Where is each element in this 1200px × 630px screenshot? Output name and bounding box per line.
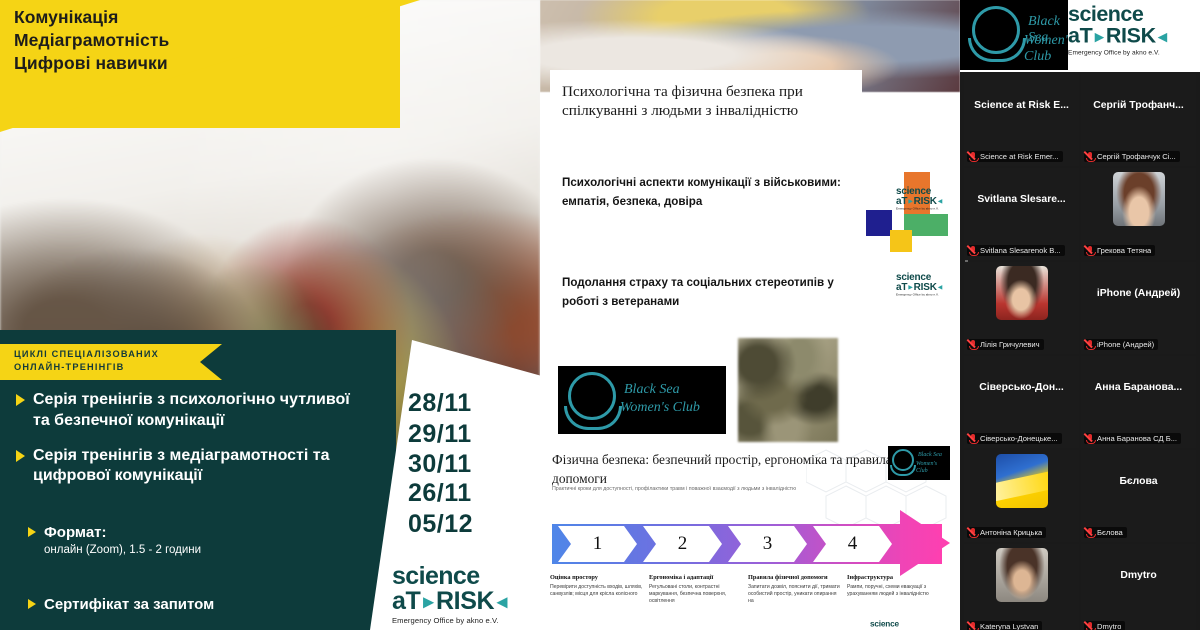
- logo-line-1: science: [870, 620, 899, 628]
- slide-topic-2: Подолання страху та соціальних стереотип…: [562, 274, 862, 312]
- triangle-bullet-icon: [28, 527, 36, 537]
- step-number: 1: [558, 526, 637, 562]
- list-item: Серія тренінгів з медіаграмотності та ци…: [16, 446, 364, 488]
- participant-name-tag: Грекова Тетяна: [1084, 245, 1155, 256]
- promo-bullet-list: Серія тренінгів з психологічно чутливої …: [16, 390, 364, 501]
- chevron-right-icon: ▸: [909, 197, 913, 205]
- participant-grid: Science at Risk E...Science at Risk Emer…: [964, 74, 1196, 630]
- participant-name-tag: iPhone (Андрей): [1084, 339, 1158, 350]
- black-sea-womens-club-logo: Black Sea Women's Club: [888, 446, 950, 480]
- participant-tile[interactable]: Science at Risk E...Science at Risk Emer…: [964, 74, 1079, 166]
- logo-subtitle: Emergency Office by akno e.V.: [896, 207, 942, 210]
- bsw-line-2: Women's Club: [1024, 33, 1068, 64]
- black-sea-womens-club-logo: Black Sea Women's Club: [960, 0, 1068, 70]
- avatar: [996, 454, 1048, 508]
- step-descriptions: Оцінка простору Перевірити доступність в…: [550, 574, 946, 606]
- step-desc: Регульовані столи, контрастні маркування…: [649, 584, 742, 606]
- bsw-line-1: Black Sea: [624, 382, 680, 398]
- microphone-muted-icon: [969, 152, 977, 161]
- process-arrow-diagram: 1 2 3 4: [548, 512, 952, 576]
- participant-tag-label: Сіверсько-Донецьке...: [980, 434, 1058, 443]
- square-navy: [866, 210, 892, 236]
- participant-tile[interactable]: DmytroDmytro: [1081, 544, 1196, 630]
- microphone-muted-icon: [969, 340, 977, 349]
- logo-subtitle: Emergency Office by akno e.V.: [392, 617, 507, 625]
- participant-name-tag: Dmytro: [1084, 621, 1125, 630]
- participant-name-tag: Антоніна Крицька: [967, 527, 1046, 538]
- avatar: [1113, 172, 1165, 226]
- participant-tile[interactable]: Kateryna Lystvan: [964, 544, 1079, 630]
- arrow-head-shape: [900, 510, 950, 576]
- microphone-muted-icon: [1086, 340, 1094, 349]
- logo-risk-text: RISK: [914, 196, 937, 206]
- step-chevron: 1: [558, 526, 637, 562]
- logo-risk-text: RISK: [1106, 26, 1156, 48]
- participant-tile[interactable]: Сергій Трофанч...Сергій Трофанчук Сі...: [1081, 74, 1196, 166]
- step-number: 2: [643, 526, 722, 562]
- training-dates-group-2: 26/11 05/12: [408, 478, 473, 539]
- participant-name-tag: Svitlana Slesarenok B...: [967, 245, 1065, 256]
- logo-risk-text: RISK: [436, 589, 494, 614]
- list-item: Правила фізичної допомоги Запитати дозві…: [748, 574, 841, 606]
- avatar: [996, 266, 1048, 320]
- science-at-risk-logo: science aT ▸ RISK ◂ Emergency Office by …: [896, 186, 942, 210]
- participant-tag-label: Svitlana Slesarenok B...: [980, 246, 1061, 255]
- format-value: онлайн (Zoom), 1.5 - 2 години: [44, 544, 201, 556]
- presentation-slides: Психологічна та фізична безпека при спіл…: [540, 0, 960, 630]
- bottom-slide-subtitle: Практичні кроки для доступності, профіла…: [552, 486, 908, 493]
- chevron-right-icon: ▸: [423, 592, 433, 612]
- wave-icon: [890, 465, 916, 476]
- participant-tag-label: Kateryna Lystvan: [980, 622, 1038, 630]
- wave-icon: [564, 406, 622, 430]
- logo-at-text: aT: [896, 282, 907, 292]
- slide-heading: Психологічна та фізична безпека при спіл…: [562, 82, 850, 121]
- participant-display-name: Svitlana Slesare...: [964, 194, 1079, 205]
- logo-line-2: aT ▸ RISK ◂: [1068, 26, 1167, 48]
- participant-display-name: Сіверсько-Дон...: [964, 382, 1079, 393]
- logo-risk-text: RISK: [914, 282, 937, 292]
- list-item: Серія тренінгів з психологічно чутливої …: [16, 390, 364, 432]
- bsw-line-1: Black Sea: [918, 452, 942, 459]
- logo-at-text: aT: [896, 196, 907, 206]
- slide-topic-1: Психологічні аспекти комунікації з війсь…: [562, 174, 862, 212]
- microphone-muted-icon: [969, 246, 977, 255]
- slide-title-card: Психологічна та фізична безпека при спіл…: [550, 70, 862, 131]
- logo-line-1: science: [1068, 4, 1167, 26]
- step-title: Інфраструктура: [847, 574, 940, 582]
- logo-line-2: aT ▸ RISK ◂: [896, 282, 942, 292]
- triangle-bullet-icon: [28, 599, 36, 609]
- slide-bottom-card: Фізична безпека: безпечний простір, ерго…: [540, 444, 960, 630]
- participant-tag-label: Антоніна Крицька: [980, 528, 1042, 537]
- microphone-muted-icon: [1086, 434, 1094, 443]
- participant-tag-label: Dmytro: [1097, 622, 1121, 630]
- decorative-squares: [856, 172, 952, 250]
- triangle-bullet-icon: [16, 394, 25, 406]
- participant-tag-label: Сергій Трофанчук Сі...: [1097, 152, 1176, 161]
- participant-tile[interactable]: БєловаБєлова: [1081, 450, 1196, 542]
- science-at-risk-logo: science aT ▸ RISK ◂ Emergency Office by …: [1068, 4, 1167, 56]
- participant-tile[interactable]: iPhone (Андрей)iPhone (Андрей): [1081, 262, 1196, 354]
- step-title: Правила фізичної допомоги: [748, 574, 841, 582]
- participant-name-tag: Kateryna Lystvan: [967, 621, 1042, 630]
- logo-at-text: aT: [1068, 26, 1092, 48]
- bsw-line-2: Women's Club: [916, 461, 950, 474]
- microphone-muted-icon: [969, 622, 977, 630]
- logo-line-2: aT ▸ RISK ◂: [392, 589, 507, 614]
- logo-line-2: aT ▸ RISK ◂: [896, 196, 942, 206]
- participant-tag-label: Лілія Гричулевич: [980, 340, 1040, 349]
- chevron-left-icon: ◂: [938, 283, 942, 291]
- microphone-muted-icon: [969, 528, 977, 537]
- triangle-bullet-icon: [16, 450, 25, 462]
- science-at-risk-logo: science aT ▸ RISK ◂ Emergency Office by …: [392, 564, 507, 625]
- step-number: 3: [728, 526, 807, 562]
- chevron-right-icon: ▸: [1095, 28, 1103, 45]
- list-item: Ергономіка і адаптації Регульовані столи…: [649, 574, 742, 606]
- participant-display-name: Сергій Трофанч...: [1081, 100, 1196, 111]
- chevron-left-icon: ◂: [938, 197, 942, 205]
- participant-name-tag: Лілія Гричулевич: [967, 339, 1044, 350]
- bullet-text: Серія тренінгів з медіаграмотності та ци…: [33, 446, 364, 488]
- participant-display-name: Анна Баранова...: [1081, 382, 1196, 393]
- step-desc: Запитати дозвіл, пояснити дії, тримати о…: [748, 584, 841, 606]
- promo-title: Комунікація Медіаграмотність Цифрові нав…: [14, 6, 364, 75]
- participant-gallery[interactable]: Science at Risk E...Science at Risk Emer…: [964, 74, 1196, 630]
- certificate-label: Сертифікат за запитом: [44, 596, 214, 613]
- step-chevron: 2: [643, 526, 722, 562]
- black-sea-womens-club-logo: Black Sea Women's Club: [558, 366, 726, 434]
- participant-name-tag: Сергій Трофанчук Сі...: [1084, 151, 1180, 162]
- participant-tag-label: iPhone (Андрей): [1097, 340, 1154, 349]
- list-item: Оцінка простору Перевірити доступність в…: [550, 574, 643, 606]
- microphone-muted-icon: [1086, 528, 1094, 537]
- chevron-left-icon: ◂: [497, 592, 507, 612]
- logo-subtitle: Emergency Office by akno e.V.: [896, 293, 942, 296]
- certificate-section: Сертифікат за запитом: [28, 596, 214, 613]
- participant-display-name: Dmytro: [1081, 570, 1196, 581]
- step-number: 4: [813, 526, 892, 562]
- wave-icon: [968, 38, 1026, 62]
- participant-tile[interactable]: Антоніна Крицька: [964, 450, 1079, 542]
- collage-root: Комунікація Медіаграмотність Цифрові нав…: [0, 0, 1200, 630]
- format-section: Формат: онлайн (Zoom), 1.5 - 2 години: [28, 524, 348, 556]
- participant-tile[interactable]: Svitlana Slesare...Svitlana Slesarenok B…: [964, 168, 1079, 260]
- promo-poster: Комунікація Медіаграмотність Цифрові нав…: [0, 0, 540, 630]
- step-title: Ергономіка і адаптації: [649, 574, 742, 582]
- training-dates-group-1: 28/11 29/11 30/11: [408, 388, 472, 480]
- participant-tag-label: Science at Risk Emer...: [980, 152, 1059, 161]
- step-chevron: 4: [813, 526, 892, 562]
- science-at-risk-logo: science: [870, 620, 899, 628]
- participant-tile[interactable]: Сіверсько-Дон...Сіверсько-Донецьке...: [964, 356, 1079, 448]
- participant-tile[interactable]: Анна Баранова...Анна Баранова СД Б...: [1081, 356, 1196, 448]
- logo-subtitle: Emergency Office by akno e.V.: [1068, 50, 1167, 57]
- participant-display-name: Бєлова: [1081, 476, 1196, 487]
- microphone-muted-icon: [1086, 246, 1094, 255]
- participant-name-tag: Бєлова: [1084, 527, 1127, 538]
- format-label: Формат:: [44, 524, 201, 543]
- square-yellow: [890, 230, 912, 252]
- participant-name-tag: Сіверсько-Донецьке...: [967, 433, 1062, 444]
- bullet-text: Серія тренінгів з психологічно чутливої …: [33, 390, 364, 432]
- microphone-muted-icon: [1086, 622, 1094, 630]
- participant-name-tag: Анна Баранова СД Б...: [1084, 433, 1181, 444]
- participant-tag-label: Грекова Тетяна: [1097, 246, 1151, 255]
- chevron-right-icon: ▸: [909, 283, 913, 291]
- participant-display-name: iPhone (Андрей): [1081, 288, 1196, 299]
- step-desc: Перевірити доступність входів, шляхів, с…: [550, 584, 643, 598]
- participant-tag-label: Анна Баранова СД Б...: [1097, 434, 1177, 443]
- ribbon-label: ЦИКЛІ СПЕЦІАЛІЗОВАНИХ ОНЛАЙН-ТРЕНІНГІВ: [14, 348, 214, 375]
- science-at-risk-logo: science aT ▸ RISK ◂ Emergency Office by …: [896, 272, 942, 296]
- participant-tag-label: Бєлова: [1097, 528, 1123, 537]
- microphone-muted-icon: [1086, 152, 1094, 161]
- list-item: Інфраструктура Рампи, поручні, схеми ева…: [847, 574, 940, 606]
- step-title: Оцінка простору: [550, 574, 643, 582]
- step-chevron: 3: [728, 526, 807, 562]
- participant-display-name: Science at Risk E...: [964, 100, 1079, 111]
- microphone-muted-icon: [969, 434, 977, 443]
- step-chevrons: 1 2 3 4: [558, 526, 898, 562]
- bsw-line-2: Women's Club: [620, 400, 700, 416]
- chevron-left-icon: ◂: [1158, 28, 1166, 45]
- participant-name-tag: Science at Risk Emer...: [967, 151, 1063, 162]
- camouflage-pattern-image: [738, 338, 838, 442]
- step-desc: Рампи, поручні, схеми евакуації з урахув…: [847, 584, 940, 598]
- avatar: [996, 548, 1048, 602]
- participant-tile[interactable]: Грекова Тетяна: [1081, 168, 1196, 260]
- logo-at-text: aT: [392, 589, 420, 614]
- bottom-slide-heading: Фізична безпека: безпечний простір, ерго…: [552, 450, 892, 489]
- logo-line-1: science: [392, 564, 507, 589]
- zoom-participants-panel: Black Sea Women's Club science aT ▸ RISK…: [960, 0, 1200, 630]
- participant-tile[interactable]: Лілія Гричулевич: [964, 262, 1079, 354]
